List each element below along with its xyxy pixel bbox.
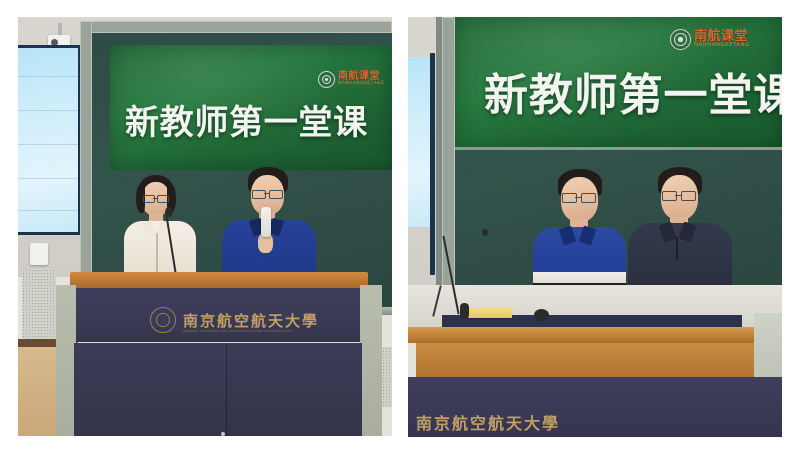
projection-screen [18,48,78,232]
glasses-icon [252,190,266,199]
yellow-book [468,307,512,318]
board-title: 新教师第一堂课 [484,59,782,123]
speaker-grille-left [22,269,56,339]
podium-door-divider [226,345,227,436]
board-bottom-edge [455,147,782,150]
desk-top [408,327,782,343]
glasses-icon-right [681,191,696,201]
nuaa-seal-icon [670,29,691,50]
podium-lock-icon [221,432,225,436]
glasses-icon-right [581,193,596,203]
glasses-icon-right [157,195,169,203]
nuaa-classroom-logo: 南航课堂 NANHANGKETANG [670,29,750,50]
podium-university-name-cn: 南京航空航天大學 [416,410,560,434]
speaker-grille-right [382,347,392,407]
glasses-icon [143,195,155,203]
desk-mic-second [534,309,549,321]
chalkboard-frame-left [80,21,92,313]
glasses-icon [562,193,577,203]
podium-side-right [360,285,382,436]
podium-side-left [56,285,76,436]
logo-latin-text: NANHANGKETANG [694,44,750,49]
glasses-icon [662,191,677,201]
gooseneck-mic-head [482,229,488,236]
torso-polo-blue-band [533,227,626,272]
chalkboard-rail [436,17,442,285]
wall-device [30,243,48,265]
polo-placket [676,237,678,259]
desk-mic-body [460,303,469,319]
glasses-bridge [264,193,269,194]
board-title: 新教师第一堂课 [125,95,368,144]
podium-front-panel [74,343,362,436]
logo-latin-text: NANHANGKETANG [338,82,384,86]
logo-chinese-text: 南航课堂 [694,30,750,43]
glasses-bridge [153,198,157,199]
chalkboard-frame [80,21,392,33]
gooseneck-mic-head [165,207,173,217]
glasses-bridge [675,195,681,196]
left-photo: 南航课堂 NANHANGKETANG 新教师第一堂课 [18,17,392,436]
right-photo: 南航课堂 NANHANGKETANG 新教师第一堂课 [408,17,782,437]
desk-front-panel [416,343,772,377]
glasses-icon-right [269,190,283,199]
podium-top [70,272,368,288]
podium-university-name-cn: 南京航空航天大學 [183,310,319,331]
screenshot-canvas: 南航课堂 NANHANGKETANG 新教师第一堂课 [0,0,800,450]
polo-white-stripe [533,272,626,283]
handheld-microphone [261,207,271,237]
nuaa-classroom-logo: 南航课堂 NANHANGKETANG [318,71,384,88]
glasses-bridge [575,197,581,198]
projection-screen-frame [430,53,435,275]
nuaa-crest-icon [150,307,176,333]
nuaa-seal-icon [318,71,335,88]
podium-university-name-en: NANJING UNIVERSITY OF AERONAUTICS AND AS… [183,329,292,332]
